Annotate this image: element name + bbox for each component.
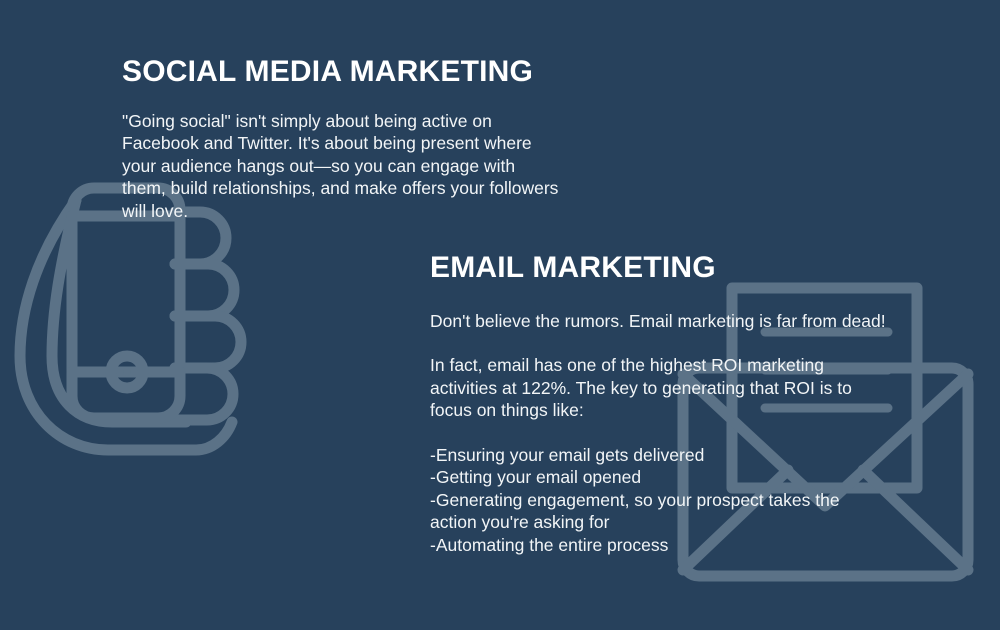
list-item: -Ensuring your email gets delivered bbox=[430, 444, 890, 467]
social-media-marketing-heading: SOCIAL MEDIA MARKETING bbox=[122, 56, 562, 88]
social-media-marketing-section: SOCIAL MEDIA MARKETING "Going social" is… bbox=[122, 56, 562, 222]
list-item: -Generating engagement, so your prospect… bbox=[430, 489, 890, 534]
email-marketing-paragraph-2: In fact, email has one of the highest RO… bbox=[430, 354, 890, 422]
email-marketing-heading: EMAIL MARKETING bbox=[430, 252, 890, 284]
email-marketing-paragraph-1: Don't believe the rumors. Email marketin… bbox=[430, 310, 890, 333]
infographic-slide: SOCIAL MEDIA MARKETING "Going social" is… bbox=[0, 0, 1000, 630]
email-marketing-bullet-list: -Ensuring your email gets delivered -Get… bbox=[430, 444, 890, 557]
list-item: -Automating the entire process bbox=[430, 534, 890, 557]
email-marketing-section: EMAIL MARKETING Don't believe the rumors… bbox=[430, 252, 890, 556]
social-media-marketing-paragraph: "Going social" isn't simply about being … bbox=[122, 110, 562, 223]
list-item: -Getting your email opened bbox=[430, 466, 890, 489]
